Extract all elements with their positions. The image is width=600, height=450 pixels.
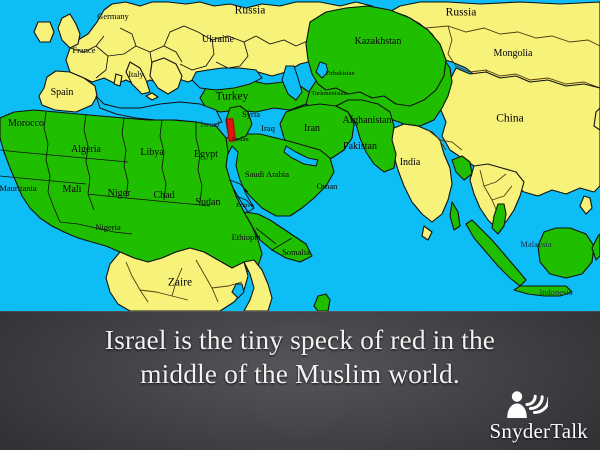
region-andaman <box>450 202 460 230</box>
region-india <box>390 124 452 222</box>
region-java <box>514 286 572 296</box>
region-sri-lanka <box>422 226 432 240</box>
caption-text: Israel is the tiny speck of red in the m… <box>0 323 600 390</box>
region-madagascar <box>314 294 330 311</box>
region-north-africa <box>0 110 262 272</box>
meme-image: .g{fill:#1fbf00;stroke:#101010;stroke-wi… <box>0 0 600 450</box>
region-east-africa-yellow <box>244 260 272 311</box>
region-sardinia <box>114 74 122 86</box>
watermark: SnyderTalk <box>456 388 588 444</box>
region-ireland <box>34 22 54 42</box>
watermark-text: SnyderTalk <box>489 421 588 442</box>
map-vector-layer: .g{fill:#1fbf00;stroke:#101010;stroke-wi… <box>0 0 600 311</box>
world-map: .g{fill:#1fbf00;stroke:#101010;stroke-wi… <box>0 0 600 311</box>
region-sicily <box>146 93 158 100</box>
region-great-britain <box>58 14 80 48</box>
region-borneo <box>538 228 594 278</box>
region-philippines-hint <box>580 196 592 214</box>
person-broadcast-icon <box>504 388 548 418</box>
caption-line-2: middle of the Muslim world. <box>14 357 586 391</box>
caption-bar: Israel is the tiny speck of red in the m… <box>0 311 600 450</box>
caption-line-1: Israel is the tiny speck of red in the <box>14 323 586 357</box>
